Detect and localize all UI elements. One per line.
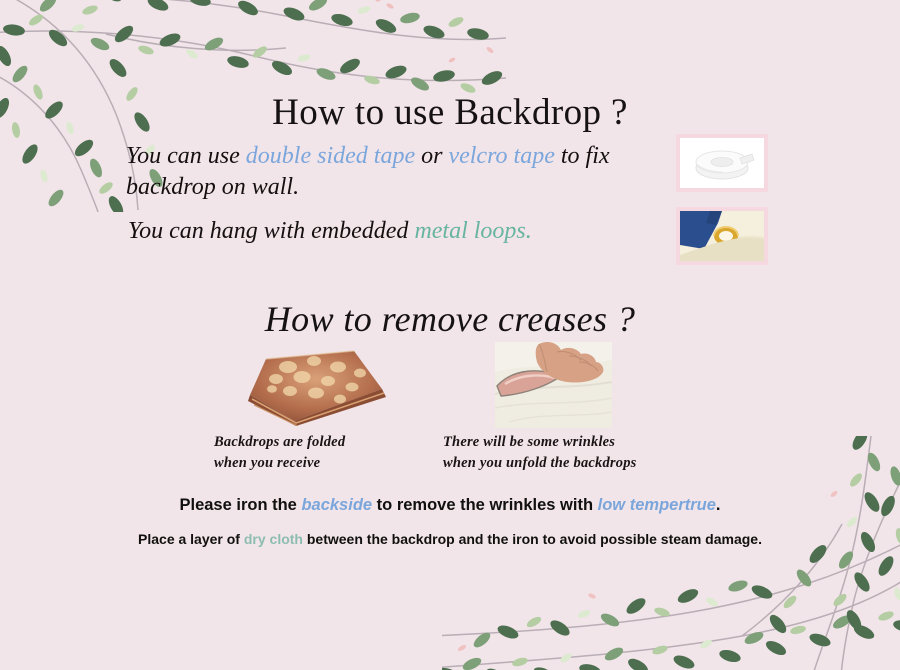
tape-text-part2: or — [415, 143, 448, 169]
tape-highlight-double-sided: double sided tape — [246, 143, 415, 169]
cloth-highlight-dry-cloth: dry cloth — [244, 531, 303, 547]
iron-text-part2: to remove the wrinkles with — [372, 496, 598, 514]
tape-text-part1: You can use — [126, 143, 246, 169]
instruction-loops: You can hang with embedded metal loops. — [128, 216, 673, 247]
instruction-card: How to use Backdrop ? You can use double… — [0, 0, 900, 670]
caption-wrinkle-line1: There will be some wrinkles — [443, 432, 688, 453]
tape-roll-icon — [680, 138, 764, 188]
photo-folded-backdrop — [236, 343, 386, 426]
iron-text-part3: . — [716, 496, 721, 514]
caption-folded-backdrop: Backdrops are folded when you receive — [214, 432, 424, 474]
caption-folded-line2: when you receive — [214, 453, 424, 474]
note-dry-cloth: Place a layer of dry cloth between the b… — [0, 531, 900, 547]
note-iron-backside: Please iron the backside to remove the w… — [0, 496, 900, 515]
photo-hand-smoothing-wrinkles — [495, 342, 612, 428]
caption-folded-line1: Backdrops are folded — [214, 432, 424, 453]
page-title-remove-creases: How to remove creases ? — [0, 298, 900, 340]
cloth-text-part2: between the backdrop and the iron to avo… — [303, 531, 762, 547]
loops-text-part1: You can hang with embedded — [128, 218, 414, 244]
tape-highlight-velcro: velcro tape — [448, 143, 554, 169]
iron-highlight-backside: backside — [301, 496, 372, 514]
caption-wrinkles: There will be some wrinkles when you unf… — [443, 432, 688, 474]
cloth-text-part1: Place a layer of — [138, 531, 244, 547]
iron-text-part1: Please iron the — [179, 496, 301, 514]
grommet-icon — [680, 211, 764, 261]
page-title-how-to-use: How to use Backdrop ? — [0, 91, 900, 134]
thumbnail-metal-loop — [676, 207, 768, 265]
iron-highlight-low-temperature: low tempertrue — [598, 496, 716, 514]
caption-wrinkle-line2: when you unfold the backdrops — [443, 453, 688, 474]
folded-fabric-illustration — [236, 343, 386, 426]
instruction-tape: You can use double sided tape or velcro … — [126, 141, 646, 203]
thumbnail-double-sided-tape — [676, 134, 768, 192]
loops-highlight-metal-loops: metal loops. — [414, 218, 531, 244]
hand-on-fabric-illustration — [495, 342, 612, 428]
